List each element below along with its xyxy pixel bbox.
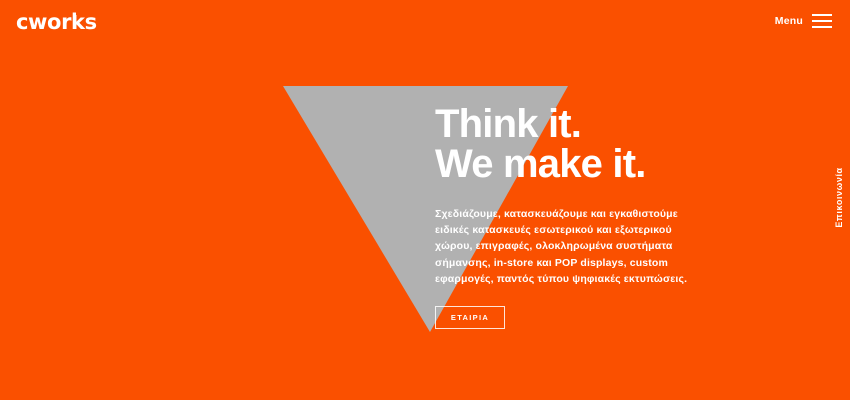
description-line: σήμανσης, in-store και POP displays, cus… <box>435 255 660 271</box>
menu-toggle[interactable]: Menu <box>775 14 832 28</box>
hero-content: Think it. We make it. Σχεδιάζουμε, κατασ… <box>435 104 775 329</box>
description-line: Σχεδιάζουμε, κατασκευάζουμε και εγκαθιστ… <box>435 206 660 222</box>
contact-side-rail[interactable]: Επικοινωνία <box>834 167 844 232</box>
menu-label: Menu <box>775 15 803 27</box>
hero-description: Σχεδιάζουμε, κατασκευάζουμε και εγκαθιστ… <box>435 206 660 287</box>
hamburger-line <box>812 14 832 16</box>
description-line: ειδικές κατασκευές εσωτερικού και εξωτερ… <box>435 222 660 238</box>
contact-link-label[interactable]: Επικοινωνία <box>834 167 844 227</box>
description-line: εφαρμογές, παντός τύπου ψηφιακές εκτυπώσ… <box>435 271 660 287</box>
description-line: χώρου, επιγραφές, ολοκληρωμένα συστήματα <box>435 238 660 254</box>
headline-line-1: Think it. <box>435 104 775 144</box>
headline-line-2: We make it. <box>435 144 775 184</box>
site-logo[interactable]: cworks <box>16 10 97 33</box>
hamburger-line <box>812 26 832 28</box>
hamburger-icon[interactable] <box>812 14 832 28</box>
hero-section: cworks Menu Think it. We make it. Σχεδιά… <box>0 0 850 400</box>
company-cta-button[interactable]: ΕΤΑΙΡΙΑ <box>435 306 505 329</box>
hamburger-line <box>812 20 832 22</box>
top-navigation-bar: cworks Menu <box>0 0 850 42</box>
